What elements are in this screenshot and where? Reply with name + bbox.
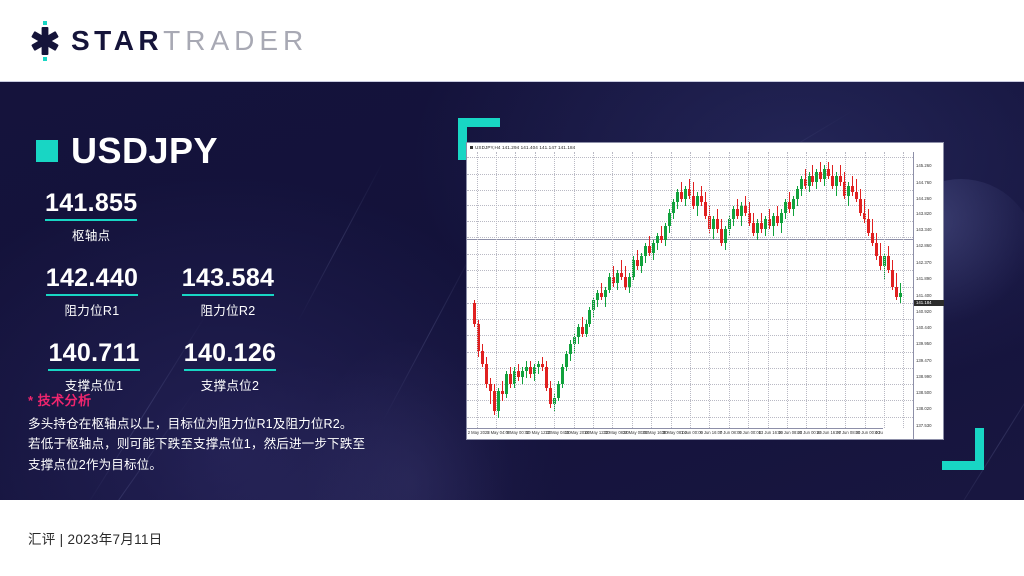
brand-logo[interactable]: STAR TRADER xyxy=(28,21,308,61)
current-price-tag: 141.184 xyxy=(914,300,944,306)
resistance-row: 142.440 阻力位R1 143.584 阻力位R2 xyxy=(0,265,420,319)
symbol-title: USDJPY xyxy=(36,133,218,169)
y-tick-label: 141.400 xyxy=(916,294,932,298)
chart-marker-icon xyxy=(470,146,473,149)
corner-bracket-bottom-right xyxy=(942,428,984,470)
level-value: 141.855 xyxy=(45,190,137,221)
analysis-line: 若低于枢轴点，则可能下跌至支撑点位1，然后进一步下跌至 xyxy=(28,434,418,454)
grid-line xyxy=(768,152,769,428)
level-label: 阻力位R1 xyxy=(36,300,148,319)
level-r1: 142.440 阻力位R1 xyxy=(36,265,148,319)
x-tick-label: 4 Jul 16:00 xyxy=(875,431,883,435)
technical-analysis: * 技术分析 多头持仓在枢轴点以上，目标位为阻力位R1及阻力位R2。 若低于枢轴… xyxy=(28,390,418,475)
grid-line xyxy=(748,152,749,428)
level-value: 142.440 xyxy=(46,265,138,296)
grid-line xyxy=(477,152,478,428)
level-label: 阻力位R2 xyxy=(172,300,284,319)
y-tick-label: 140.440 xyxy=(916,326,932,330)
y-tick-label: 138.020 xyxy=(916,407,932,411)
analysis-body: 多头持仓在枢轴点以上，目标位为阻力位R1及阻力位R2。 若低于枢轴点，则可能下跌… xyxy=(28,414,418,475)
y-tick-label: 143.820 xyxy=(916,212,932,216)
grid-line xyxy=(535,152,536,428)
level-value: 140.711 xyxy=(48,340,139,371)
grid-line xyxy=(671,152,672,428)
analysis-heading: * 技术分析 xyxy=(28,390,418,409)
grid-line xyxy=(865,152,866,428)
level-s1: 140.711 支撑点位1 xyxy=(40,340,148,394)
grid-line xyxy=(787,152,788,428)
y-tick-label: 142.370 xyxy=(916,261,932,265)
analysis-line: 多头持仓在枢轴点以上，目标位为阻力位R1及阻力位R2。 xyxy=(28,414,418,434)
brand-name-light: TRADER xyxy=(163,25,308,57)
grid-line xyxy=(709,152,710,428)
page-title: USDJPY xyxy=(71,133,218,169)
y-tick-label: 138.500 xyxy=(916,391,932,395)
y-tick-label: 142.860 xyxy=(916,244,932,248)
grid-line xyxy=(515,152,516,428)
grid-line xyxy=(632,152,633,428)
price-chart[interactable]: USDJPY,H4 141.294 141.404 141.147 141.18… xyxy=(466,142,944,440)
grid-line xyxy=(554,152,555,428)
pivot-levels: 141.855 枢轴点 142.440 阻力位R1 143.584 阻力位R2 … xyxy=(0,190,420,394)
level-label: 枢轴点 xyxy=(45,225,137,244)
candlestick-canvas[interactable]: 2 May 20235 May 04:009 May 00:0010 May 1… xyxy=(467,152,913,439)
y-tick-label: 145.260 xyxy=(916,164,932,168)
level-value: 143.584 xyxy=(182,265,274,296)
grid-line xyxy=(806,152,807,428)
six-point-asterisk-icon xyxy=(28,21,62,61)
y-tick-label: 141.890 xyxy=(916,277,932,281)
y-tick-label: 139.950 xyxy=(916,342,932,346)
y-tick-label: 143.340 xyxy=(916,228,932,232)
grid-line xyxy=(884,152,885,428)
site-footer: 汇评 | 2023年7月11日 xyxy=(0,500,1024,576)
level-r2: 143.584 阻力位R2 xyxy=(172,265,284,319)
level-s2: 140.126 支撑点位2 xyxy=(176,340,284,394)
chart-title: USDJPY,H4 141.294 141.404 141.147 141.18… xyxy=(475,145,575,150)
chart-x-axis: 2 May 20235 May 04:009 May 00:0010 May 1… xyxy=(467,428,883,439)
y-tick-label: 144.260 xyxy=(916,197,932,201)
grid-line xyxy=(612,152,613,428)
y-tick-label: 144.760 xyxy=(916,181,932,185)
grid-line xyxy=(690,152,691,428)
site-header: STAR TRADER xyxy=(0,0,1024,82)
y-tick-label: 137.530 xyxy=(916,424,932,428)
grid-line xyxy=(593,152,594,428)
y-tick-label: 138.990 xyxy=(916,375,932,379)
chart-y-axis: 145.260144.760144.260143.820143.340142.8… xyxy=(913,152,943,439)
brand-name-bold: STAR xyxy=(71,25,163,57)
chart-title-bar: USDJPY,H4 141.294 141.404 141.147 141.18… xyxy=(467,143,943,152)
grid-line xyxy=(845,152,846,428)
footer-text: 汇评 | 2023年7月11日 xyxy=(28,528,163,548)
poster-root: STAR TRADER USDJPY 141.855 枢轴点 xyxy=(0,0,1024,576)
grid-line xyxy=(574,152,575,428)
level-value: 140.126 xyxy=(184,340,276,371)
grid-line xyxy=(729,152,730,428)
chart-plot-area: 2 May 20235 May 04:009 May 00:0010 May 1… xyxy=(467,152,943,439)
grid-line xyxy=(826,152,827,428)
grid-line xyxy=(496,152,497,428)
pivot-row: 141.855 枢轴点 xyxy=(0,190,420,244)
level-pivot: 141.855 枢轴点 xyxy=(45,190,137,244)
grid-line xyxy=(651,152,652,428)
y-tick-label: 139.470 xyxy=(916,359,932,363)
grid-line xyxy=(903,152,904,428)
support-row: 140.711 支撑点位1 140.126 支撑点位2 xyxy=(0,340,420,394)
y-tick-label: 140.920 xyxy=(916,310,932,314)
accent-square-icon xyxy=(36,140,58,162)
analysis-line: 支撑点位2作为目标位。 xyxy=(28,455,418,475)
